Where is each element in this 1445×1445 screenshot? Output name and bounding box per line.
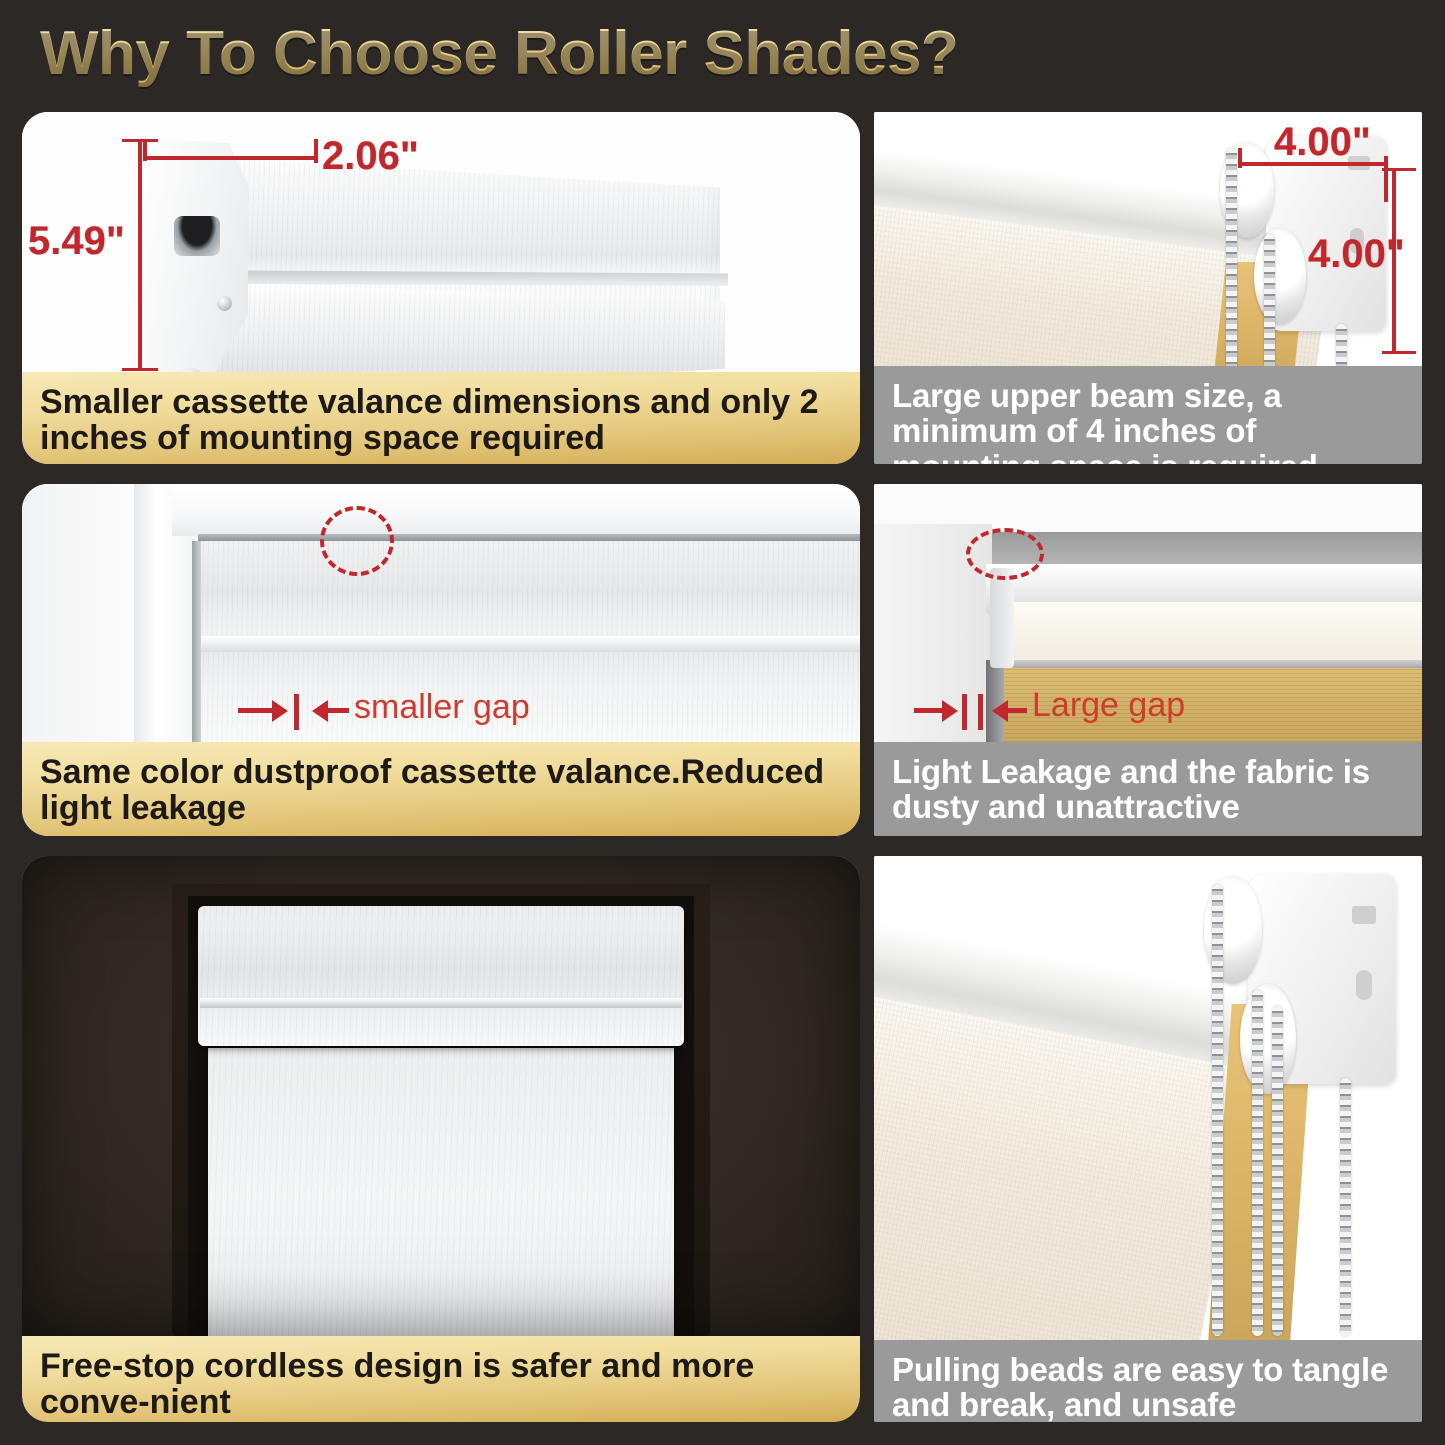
beam-width-dimension-label: 4.00" [1274,120,1371,165]
beam-width-tick-left [1238,148,1242,168]
bead-chain [1226,148,1237,374]
beam-height-dimension-label: 4.00" [1308,232,1405,277]
caption-bar: Large upper beam size, a minimum of 4 in… [874,366,1422,464]
height-dim-tick-top [122,139,158,142]
caption-bar: Pulling beads are easy to tangle and bre… [874,1340,1422,1422]
gap-highlight-circle [966,528,1044,580]
panel-cassette-valance: 2.06" 5.49" Smaller cassette valance dim… [22,112,860,464]
gap-marker-left [238,708,274,713]
caption-text: Large upper beam size, a minimum of 4 in… [874,366,1422,464]
infographic-root: Why To Choose Roller Shades? 2.06" 5.49" [0,0,1445,1445]
width-dimension-label: 2.06" [322,134,419,179]
dustproof-valance-photo: smaller gap [22,484,860,742]
gap-arrow-left [312,700,328,722]
caption-text: Free-stop cordless design is safer and m… [22,1336,860,1422]
cassette-valance-photo: 2.06" 5.49" [22,112,860,374]
beam-width-tick-right [1384,156,1388,202]
gap-arrow-left [992,700,1008,722]
bead-chain[interactable] [1340,1078,1351,1336]
gap-bar-b [978,694,983,730]
gap-highlight-circle [320,506,394,576]
caption-text: Same color dustproof cassette valance.Re… [22,742,860,835]
panel-cordless-design: Free-stop cordless design is safer and m… [22,856,860,1422]
page-title: Why To Choose Roller Shades? [40,18,958,89]
bead-chain[interactable] [1212,884,1223,1336]
width-dim-tick-right [314,139,318,163]
gap-bar-a [962,694,967,730]
pulling-beads-photo [874,856,1422,1340]
gap-marker-right [1007,708,1027,713]
light-leakage-photo: Large gap [874,484,1422,742]
bead-chain[interactable] [1272,1006,1283,1336]
caption-text: Pulling beads are easy to tangle and bre… [874,1340,1422,1422]
cassette-valance [198,906,684,1046]
bead-chain [1264,234,1275,374]
gap-label: smaller gap [354,688,530,727]
cordless-window-photo [22,856,860,1336]
caption-bar: Same color dustproof cassette valance.Re… [22,742,860,836]
caption-text: Smaller cassette valance dimensions and … [22,372,860,464]
caption-text: Light Leakage and the fabric is dusty an… [874,742,1422,833]
height-dimension-label: 5.49" [28,219,125,264]
height-dim-tick-bottom [122,368,158,371]
width-dim-tick-left [143,139,147,161]
gap-bar [294,694,299,730]
panel-large-upper-beam: 4.00" 4.00" Large upper beam size, a min… [874,112,1422,464]
beam-height-tick-top [1382,168,1416,171]
width-dim-line [143,156,318,160]
panel-light-leakage: Large gap Light Leakage and the fabric i… [874,484,1422,836]
roller-shade-fabric [208,1048,674,1336]
gap-label: Large gap [1032,686,1185,725]
bead-chain[interactable] [1252,990,1263,1336]
gap-arrow-right [942,700,958,722]
caption-bar: Light Leakage and the fabric is dusty an… [874,742,1422,836]
caption-bar: Free-stop cordless design is safer and m… [22,1336,860,1422]
panel-pulling-beads: Pulling beads are easy to tangle and bre… [874,856,1422,1422]
gap-arrow-right [272,700,288,722]
gap-marker-right [327,708,349,713]
height-dim-line [138,139,142,371]
gap-marker-left [914,708,944,713]
panel-dustproof-valance: smaller gap Same color dustproof cassett… [22,484,860,836]
large-beam-photo: 4.00" 4.00" [874,112,1422,374]
beam-height-tick-bottom [1382,351,1416,354]
caption-bar: Smaller cassette valance dimensions and … [22,372,860,464]
